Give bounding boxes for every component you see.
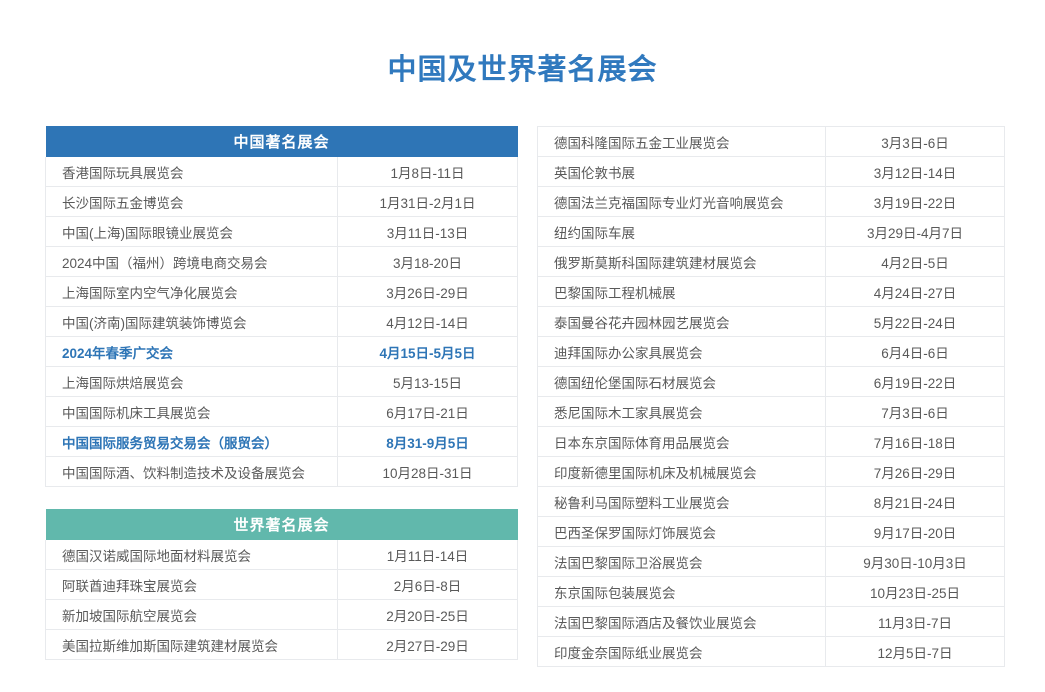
- expo-name-cell: 美国拉斯维加斯国际建筑建材展览会: [46, 630, 338, 660]
- expo-date-cell: 10月23日-25日: [826, 577, 1005, 607]
- table-world-famous-expos-continued: 德国科隆国际五金工业展览会3月3日-6日英国伦敦书展3月12日-14日德国法兰克…: [537, 126, 1005, 667]
- expo-name-cell: 印度金奈国际纸业展览会: [538, 637, 826, 667]
- table-row[interactable]: 德国科隆国际五金工业展览会3月3日-6日: [538, 127, 1005, 157]
- table-row[interactable]: 2024中国（福州）跨境电商交易会3月18-20日: [46, 247, 518, 277]
- table-row[interactable]: 德国汉诺威国际地面材料展览会1月11日-14日: [46, 540, 518, 570]
- expo-date-cell: 9月30日-10月3日: [826, 547, 1005, 577]
- expo-name-cell: 德国汉诺威国际地面材料展览会: [46, 540, 338, 570]
- expo-date-cell: 3月18-20日: [338, 247, 518, 277]
- expo-name-cell: 中国国际机床工具展览会: [46, 397, 338, 427]
- expo-name-cell: 纽约国际车展: [538, 217, 826, 247]
- table-world-header-label: 世界著名展会: [46, 509, 518, 540]
- expo-date-cell: 7月16日-18日: [826, 427, 1005, 457]
- expo-date-cell: 1月31日-2月1日: [338, 187, 518, 217]
- table-row[interactable]: 中国(济南)国际建筑装饰博览会4月12日-14日: [46, 307, 518, 337]
- expo-name-cell: 法国巴黎国际酒店及餐饮业展览会: [538, 607, 826, 637]
- table-china-famous-expos: 中国著名展会 香港国际玩具展览会1月8日-11日长沙国际五金博览会1月31日-2…: [45, 126, 518, 487]
- page-title: 中国及世界著名展会: [0, 50, 1045, 90]
- expo-date-cell: 1月11日-14日: [338, 540, 518, 570]
- table-row[interactable]: 泰国曼谷花卉园林园艺展览会5月22日-24日: [538, 307, 1005, 337]
- expo-date-cell: 5月13-15日: [338, 367, 518, 397]
- table-row[interactable]: 长沙国际五金博览会1月31日-2月1日: [46, 187, 518, 217]
- expo-name-cell: 2024年春季广交会: [46, 337, 338, 367]
- expo-name-cell: 印度新德里国际机床及机械展览会: [538, 457, 826, 487]
- table-row[interactable]: 阿联酋迪拜珠宝展览会2月6日-8日: [46, 570, 518, 600]
- table-row[interactable]: 巴黎国际工程机械展4月24日-27日: [538, 277, 1005, 307]
- table-row[interactable]: 中国国际机床工具展览会6月17日-21日: [46, 397, 518, 427]
- table-row[interactable]: 德国纽伦堡国际石材展览会6月19日-22日: [538, 367, 1005, 397]
- expo-date-cell: 3月26日-29日: [338, 277, 518, 307]
- table-world-body: 世界著名展会 德国汉诺威国际地面材料展览会1月11日-14日阿联酋迪拜珠宝展览会…: [46, 509, 518, 660]
- expo-date-cell: 4月15日-5月5日: [338, 337, 518, 367]
- expo-date-cell: 4月24日-27日: [826, 277, 1005, 307]
- expo-date-cell: 3月19日-22日: [826, 187, 1005, 217]
- table-row[interactable]: 纽约国际车展3月29日-4月7日: [538, 217, 1005, 247]
- expo-date-cell: 6月19日-22日: [826, 367, 1005, 397]
- table-row[interactable]: 美国拉斯维加斯国际建筑建材展览会2月27日-29日: [46, 630, 518, 660]
- expo-date-cell: 7月26日-29日: [826, 457, 1005, 487]
- table-row[interactable]: 英国伦敦书展3月12日-14日: [538, 157, 1005, 187]
- table-row[interactable]: 上海国际室内空气净化展览会3月26日-29日: [46, 277, 518, 307]
- table-row[interactable]: 日本东京国际体育用品展览会7月16日-18日: [538, 427, 1005, 457]
- expo-name-cell: 德国纽伦堡国际石材展览会: [538, 367, 826, 397]
- table-row[interactable]: 悉尼国际木工家具展览会7月3日-6日: [538, 397, 1005, 427]
- expo-date-cell: 4月12日-14日: [338, 307, 518, 337]
- expo-name-cell: 中国国际服务贸易交易会（服贸会）: [46, 427, 338, 457]
- expo-name-cell: 东京国际包装展览会: [538, 577, 826, 607]
- table-row[interactable]: 东京国际包装展览会10月23日-25日: [538, 577, 1005, 607]
- table-world-header-row: 世界著名展会: [46, 509, 518, 540]
- expo-name-cell: 长沙国际五金博览会: [46, 187, 338, 217]
- expo-name-cell: 阿联酋迪拜珠宝展览会: [46, 570, 338, 600]
- expo-name-cell: 迪拜国际办公家具展览会: [538, 337, 826, 367]
- table-row[interactable]: 俄罗斯莫斯科国际建筑建材展览会4月2日-5日: [538, 247, 1005, 277]
- expo-date-cell: 5月22日-24日: [826, 307, 1005, 337]
- expo-date-cell: 9月17日-20日: [826, 517, 1005, 547]
- expo-name-cell: 上海国际室内空气净化展览会: [46, 277, 338, 307]
- expo-name-cell: 德国科隆国际五金工业展览会: [538, 127, 826, 157]
- expo-name-cell: 俄罗斯莫斯科国际建筑建材展览会: [538, 247, 826, 277]
- expo-name-cell: 中国(上海)国际眼镜业展览会: [46, 217, 338, 247]
- expo-name-cell: 泰国曼谷花卉园林园艺展览会: [538, 307, 826, 337]
- table-china-header-label: 中国著名展会: [46, 126, 518, 157]
- expo-date-cell: 3月12日-14日: [826, 157, 1005, 187]
- expo-date-cell: 6月17日-21日: [338, 397, 518, 427]
- table-world-famous-expos: 世界著名展会 德国汉诺威国际地面材料展览会1月11日-14日阿联酋迪拜珠宝展览会…: [45, 509, 518, 660]
- table-row[interactable]: 中国国际酒、饮料制造技术及设备展览会10月28日-31日: [46, 457, 518, 487]
- expo-date-cell: 4月2日-5日: [826, 247, 1005, 277]
- expo-date-cell: 3月3日-6日: [826, 127, 1005, 157]
- table-row[interactable]: 秘鲁利马国际塑料工业展览会8月21日-24日: [538, 487, 1005, 517]
- table-row[interactable]: 印度新德里国际机床及机械展览会7月26日-29日: [538, 457, 1005, 487]
- expo-name-cell: 日本东京国际体育用品展览会: [538, 427, 826, 457]
- expo-date-cell: 8月21日-24日: [826, 487, 1005, 517]
- expo-date-cell: 1月8日-11日: [338, 157, 518, 187]
- table-china-header-row: 中国著名展会: [46, 126, 518, 157]
- expo-name-cell: 中国(济南)国际建筑装饰博览会: [46, 307, 338, 337]
- table-china-body: 中国著名展会 香港国际玩具展览会1月8日-11日长沙国际五金博览会1月31日-2…: [46, 126, 518, 487]
- expo-name-cell: 巴黎国际工程机械展: [538, 277, 826, 307]
- expo-date-cell: 2月6日-8日: [338, 570, 518, 600]
- table-row[interactable]: 印度金奈国际纸业展览会12月5日-7日: [538, 637, 1005, 667]
- expo-date-cell: 8月31-9月5日: [338, 427, 518, 457]
- expo-name-cell: 新加坡国际航空展览会: [46, 600, 338, 630]
- expo-date-cell: 2月27日-29日: [338, 630, 518, 660]
- expo-date-cell: 10月28日-31日: [338, 457, 518, 487]
- expo-name-cell: 秘鲁利马国际塑料工业展览会: [538, 487, 826, 517]
- table-row[interactable]: 迪拜国际办公家具展览会6月4日-6日: [538, 337, 1005, 367]
- table-row[interactable]: 新加坡国际航空展览会2月20日-25日: [46, 600, 518, 630]
- table-row[interactable]: 巴西圣保罗国际灯饰展览会9月17日-20日: [538, 517, 1005, 547]
- table-row[interactable]: 2024年春季广交会4月15日-5月5日: [46, 337, 518, 367]
- table-row[interactable]: 中国国际服务贸易交易会（服贸会）8月31-9月5日: [46, 427, 518, 457]
- expo-name-cell: 悉尼国际木工家具展览会: [538, 397, 826, 427]
- table-row[interactable]: 德国法兰克福国际专业灯光音响展览会3月19日-22日: [538, 187, 1005, 217]
- expo-date-cell: 2月20日-25日: [338, 600, 518, 630]
- table-row[interactable]: 香港国际玩具展览会1月8日-11日: [46, 157, 518, 187]
- expo-date-cell: 3月29日-4月7日: [826, 217, 1005, 247]
- table-world-right-body: 德国科隆国际五金工业展览会3月3日-6日英国伦敦书展3月12日-14日德国法兰克…: [538, 127, 1005, 667]
- expo-name-cell: 法国巴黎国际卫浴展览会: [538, 547, 826, 577]
- expo-date-cell: 6月4日-6日: [826, 337, 1005, 367]
- expo-name-cell: 2024中国（福州）跨境电商交易会: [46, 247, 338, 277]
- table-row[interactable]: 上海国际烘焙展览会5月13-15日: [46, 367, 518, 397]
- table-row[interactable]: 法国巴黎国际卫浴展览会9月30日-10月3日: [538, 547, 1005, 577]
- expo-name-cell: 上海国际烘焙展览会: [46, 367, 338, 397]
- expo-name-cell: 德国法兰克福国际专业灯光音响展览会: [538, 187, 826, 217]
- table-row[interactable]: 法国巴黎国际酒店及餐饮业展览会11月3日-7日: [538, 607, 1005, 637]
- table-row[interactable]: 中国(上海)国际眼镜业展览会3月11日-13日: [46, 217, 518, 247]
- expo-date-cell: 12月5日-7日: [826, 637, 1005, 667]
- expo-name-cell: 中国国际酒、饮料制造技术及设备展览会: [46, 457, 338, 487]
- expo-name-cell: 巴西圣保罗国际灯饰展览会: [538, 517, 826, 547]
- expo-date-cell: 7月3日-6日: [826, 397, 1005, 427]
- expo-name-cell: 英国伦敦书展: [538, 157, 826, 187]
- expo-date-cell: 11月3日-7日: [826, 607, 1005, 637]
- expo-name-cell: 香港国际玩具展览会: [46, 157, 338, 187]
- expo-date-cell: 3月11日-13日: [338, 217, 518, 247]
